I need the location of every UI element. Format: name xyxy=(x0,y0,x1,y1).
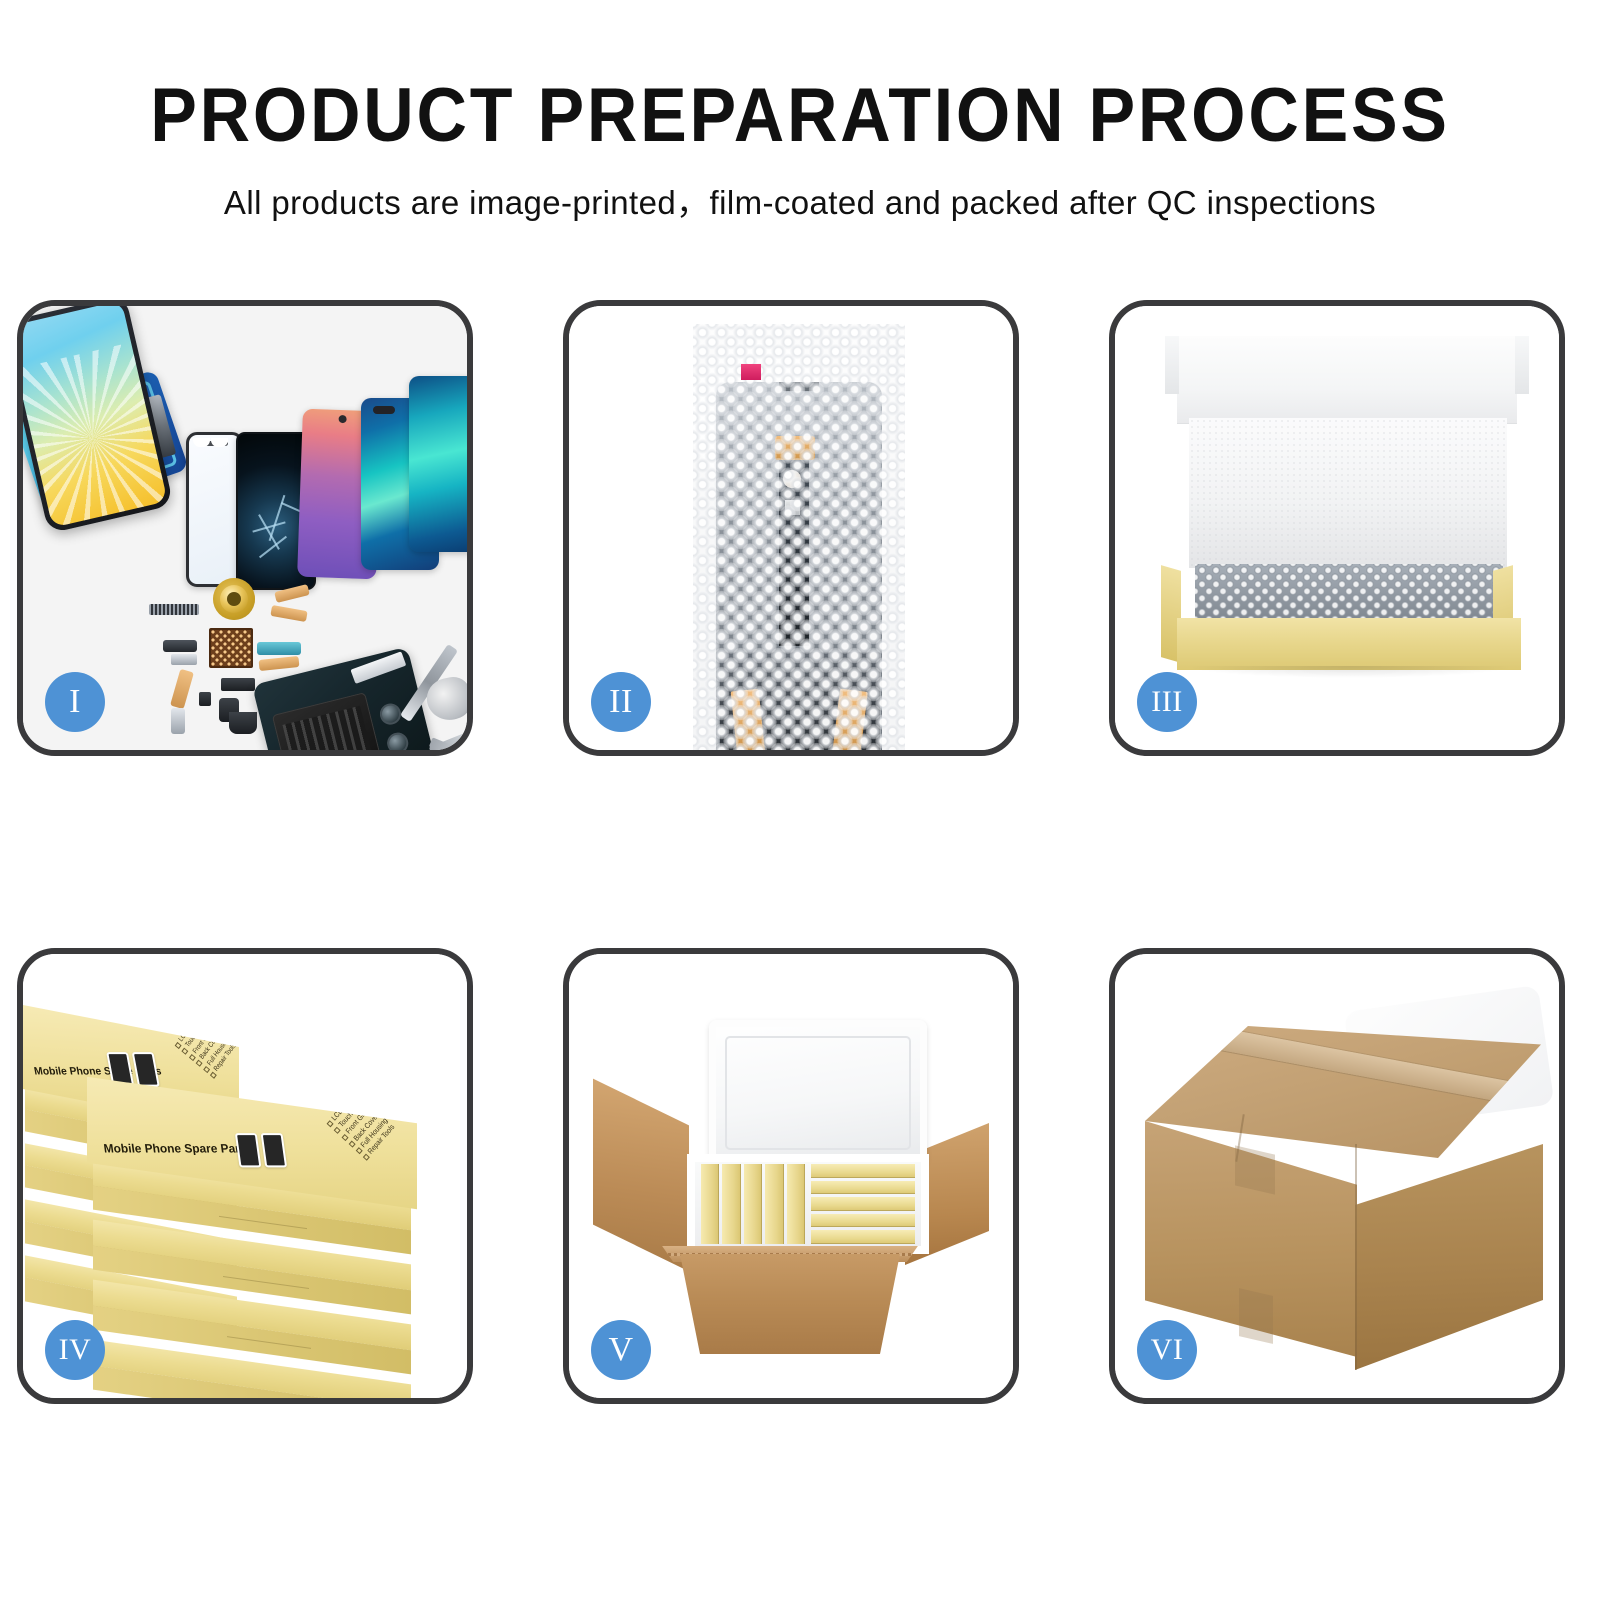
camera-lens-icon xyxy=(385,730,410,750)
small-chip-icon xyxy=(199,692,211,706)
header: PRODUCT PREPARATION PROCESS All products… xyxy=(0,0,1600,224)
gold-box-group-horizontal xyxy=(811,1164,915,1244)
infographic-page: PRODUCT PREPARATION PROCESS All products… xyxy=(0,0,1600,1600)
flex-cable-icon xyxy=(163,640,197,652)
step-badge-4: IV xyxy=(45,1320,105,1380)
process-step-1[interactable]: I xyxy=(17,300,473,756)
page-title: PRODUCT PREPARATION PROCESS xyxy=(64,78,1536,154)
step-numeral: II xyxy=(609,685,633,719)
step-badge-2: II xyxy=(591,672,651,732)
box-lid-icon xyxy=(1177,336,1517,424)
bubble-film-overlay-icon xyxy=(693,324,905,750)
carton-corner-seam xyxy=(1355,1144,1357,1370)
gold-box-slab xyxy=(722,1164,740,1244)
camera-lens-icon xyxy=(378,701,403,726)
bubble-wrapped-screen-scene xyxy=(693,324,905,750)
checkbox-icon xyxy=(341,1134,348,1141)
gold-box-slab xyxy=(811,1214,915,1228)
checkbox-icon xyxy=(356,1147,363,1154)
checkbox-icon xyxy=(334,1127,341,1134)
gold-box-slab xyxy=(744,1164,762,1244)
flex-cable-icon xyxy=(170,669,194,709)
phone-thumbnail-icon xyxy=(132,1052,160,1087)
gold-box-slab xyxy=(765,1164,783,1244)
gold-box-slab xyxy=(811,1197,915,1211)
process-step-4[interactable]: Mobile Phone Spare Parts LCD Digitizer T… xyxy=(17,948,473,1404)
connector-strip-icon xyxy=(149,604,199,615)
step-numeral: III xyxy=(1151,687,1182,717)
process-step-5[interactable]: V xyxy=(563,948,1019,1404)
checkbox-icon xyxy=(363,1154,370,1161)
carton-left-flap-icon xyxy=(593,1079,689,1272)
checkbox-icon xyxy=(210,1072,217,1079)
phone-thumbnail-icon xyxy=(261,1133,288,1167)
speaker-module-icon xyxy=(221,678,255,691)
flex-cable-icon xyxy=(270,605,307,622)
gold-box-slab xyxy=(811,1230,915,1244)
board-ribbon-icon xyxy=(350,651,406,684)
step-badge-3: III xyxy=(1137,672,1197,732)
teal-flex-cable-icon xyxy=(257,642,301,655)
gold-box-slab xyxy=(787,1164,805,1244)
gold-box-slab xyxy=(811,1164,915,1178)
retail-box-checklist: LCD Digitizer Touch Panel Front Glass Ba… xyxy=(325,1088,399,1163)
flex-cable-icon xyxy=(259,656,300,671)
process-step-6[interactable]: VI xyxy=(1109,948,1565,1404)
teal-wave-phone-icon xyxy=(409,376,467,552)
box-shadow xyxy=(1185,666,1515,678)
gold-box-slab xyxy=(811,1181,915,1195)
tempered-glass-icon xyxy=(186,432,243,587)
checkbox-icon xyxy=(348,1140,355,1147)
gold-box-front-icon xyxy=(1177,618,1521,670)
sunburst-pattern-icon xyxy=(23,336,168,527)
carton-right-face-icon xyxy=(1355,1144,1543,1370)
foam-sheet-icon xyxy=(1189,418,1507,568)
metal-bracket-icon xyxy=(171,654,197,665)
gold-box-slab xyxy=(701,1164,719,1244)
earpiece-icon xyxy=(229,712,257,734)
gold-box-group-vertical xyxy=(701,1164,805,1244)
step-badge-1: I xyxy=(45,672,105,732)
step-numeral: IV xyxy=(59,1335,92,1365)
checkbox-icon xyxy=(327,1120,334,1127)
bubble-wrap-fill-icon xyxy=(1195,564,1503,622)
box-phone-artwork xyxy=(235,1133,287,1167)
phone-screen-icon xyxy=(23,306,168,528)
page-subtitle: All products are image-printed，film-coat… xyxy=(0,176,1600,224)
carton-body-icon xyxy=(665,1254,915,1354)
sim-tray-icon xyxy=(171,708,185,734)
phone-thumbnail-icon xyxy=(235,1133,262,1167)
process-step-3[interactable]: III xyxy=(1109,300,1565,756)
packing-tape-icon xyxy=(1145,1026,1541,1158)
cracked-front-phone-icon xyxy=(23,306,174,534)
styrofoam-lid-icon xyxy=(709,1020,927,1166)
wireless-charging-coil-icon xyxy=(213,578,255,620)
front-camera-icon xyxy=(338,415,346,423)
battery-icon xyxy=(272,692,384,750)
step-numeral: VI xyxy=(1151,1335,1184,1365)
punch-hole-camera-icon xyxy=(373,406,395,414)
retail-box-brand-text: Mobile Phone Spare Parts xyxy=(103,1141,252,1155)
step-numeral: V xyxy=(608,1333,633,1367)
process-step-2[interactable]: II xyxy=(563,300,1019,756)
process-step-grid: I II xyxy=(17,300,1583,1440)
carton-flap-patch xyxy=(1239,1288,1273,1344)
packed-gold-boxes-icon xyxy=(701,1164,915,1244)
step-numeral: I xyxy=(69,685,81,719)
step-badge-5: V xyxy=(591,1320,651,1380)
step-badge-6: VI xyxy=(1137,1320,1197,1380)
qc-pink-label-icon xyxy=(741,364,761,380)
retail-box-checklist: LCD Digitizer Touch Panel Front Glass Ba… xyxy=(173,1011,239,1080)
bga-chip-icon xyxy=(209,628,253,668)
